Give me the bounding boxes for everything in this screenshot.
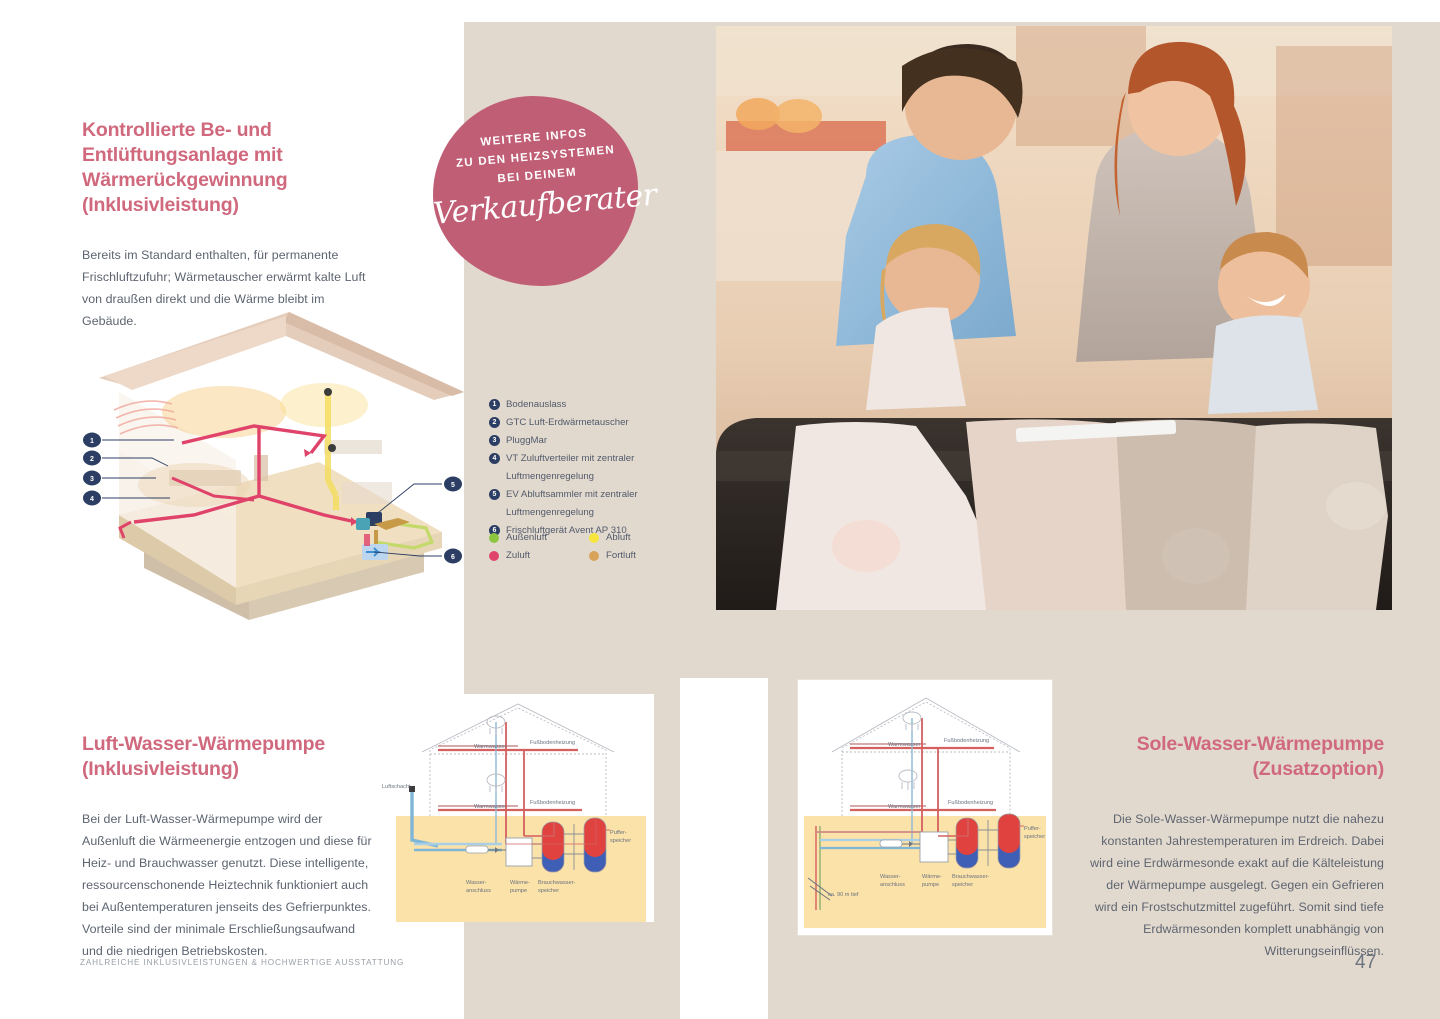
- legend-item: 2 GTC Luft-Erdwärmetauscher: [489, 415, 689, 431]
- svg-text:4: 4: [90, 496, 94, 503]
- legend-number: 5: [489, 489, 500, 500]
- svg-text:1: 1: [90, 438, 94, 445]
- section-brine-water-heatpump: Sole-Wasser-Wärmepumpe (Zusatzoption) Di…: [1090, 732, 1384, 962]
- svg-text:speicher: speicher: [538, 888, 559, 894]
- svg-text:Fußbodenheizung: Fußbodenheizung: [948, 800, 993, 806]
- legend-item: 4 VT Zuluftverteiler mit zentraler: [489, 451, 689, 467]
- svg-text:anschluss: anschluss: [466, 888, 491, 894]
- svg-text:Wasser-: Wasser-: [466, 880, 487, 886]
- air-water-body: Bei der Luft-Wasser-Wärmepumpe wird der …: [82, 808, 372, 962]
- legend-color-item: Abluft: [589, 532, 689, 543]
- legend-color-item: Zuluft: [489, 550, 589, 561]
- svg-text:Warmwasser: Warmwasser: [474, 744, 507, 750]
- legend-number: 1: [489, 399, 500, 410]
- svg-text:Puffer-: Puffer-: [610, 830, 627, 836]
- brine-water-body: Die Sole-Wasser-Wärmepumpe nutzt die nah…: [1090, 808, 1384, 962]
- legend-color-row: Außenluft Abluft: [489, 532, 689, 543]
- svg-text:Brauchwasser-: Brauchwasser-: [538, 880, 575, 886]
- airflow-color-legend: Außenluft Abluft Zuluft Fortluft: [489, 532, 689, 568]
- svg-text:speicher: speicher: [952, 882, 973, 888]
- legend-color-row: Zuluft Fortluft: [489, 550, 689, 561]
- svg-text:Wärme-: Wärme-: [922, 874, 942, 880]
- svg-text:6: 6: [451, 554, 455, 561]
- legend-number: 2: [489, 417, 500, 428]
- svg-text:pumpe: pumpe: [922, 882, 939, 888]
- svg-text:Wärme-: Wärme-: [510, 880, 530, 886]
- svg-text:speicher: speicher: [1024, 834, 1045, 840]
- ventilation-heading: Kontrollierte Be- und Entlüftungsanlage …: [82, 118, 382, 218]
- house-ventilation-diagram: 1 2 3 4 5 6: [74, 300, 474, 620]
- legend-color-label: Fortluft: [606, 550, 636, 561]
- legend-label-continued: Luftmengenregelung: [506, 469, 689, 485]
- legend-label: VT Zuluftverteiler mit zentraler: [506, 451, 634, 467]
- brine-water-heatpump-diagram: Warmwasser Fußbodenheizung Warmwasser Fu…: [798, 680, 1052, 935]
- legend-color-item: Außenluft: [489, 532, 589, 543]
- brine-water-heading: Sole-Wasser-Wärmepumpe (Zusatzoption): [1090, 732, 1384, 782]
- svg-text:speicher: speicher: [610, 838, 631, 844]
- legend-item: 5 EV Abluftsammler mit zentraler: [489, 487, 689, 503]
- legend-label: EV Abluftsammler mit zentraler: [506, 487, 638, 503]
- svg-text:3: 3: [90, 476, 94, 483]
- page-number: 47: [1355, 952, 1376, 974]
- footer-caption: ZAHLREICHE INKLUSIVLEISTUNGEN & HOCHWERT…: [80, 958, 404, 967]
- svg-text:Puffer-: Puffer-: [1024, 826, 1041, 832]
- section-air-water-heatpump: Luft-Wasser-Wärmepumpe (Inklusivleistung…: [82, 732, 372, 962]
- svg-text:Fußbodenheizung: Fußbodenheizung: [944, 738, 989, 744]
- svg-text:Wasser-: Wasser-: [880, 874, 901, 880]
- legend-number: 3: [489, 435, 500, 446]
- air-water-heatpump-diagram: Luftschacht Warmwasser Fußbodenheizung W…: [378, 694, 654, 922]
- svg-text:Fußbodenheizung: Fußbodenheizung: [530, 740, 575, 746]
- svg-text:anschluss: anschluss: [880, 882, 905, 888]
- svg-text:ca. 90 m tief: ca. 90 m tief: [828, 892, 859, 898]
- svg-text:Brauchwasser-: Brauchwasser-: [952, 874, 989, 880]
- air-water-heading: Luft-Wasser-Wärmepumpe (Inklusivleistung…: [82, 732, 372, 782]
- legend-color-item: Fortluft: [589, 550, 689, 561]
- legend-color-label: Zuluft: [506, 550, 530, 561]
- brochure-page: WEITERE INFOS ZU DEN HEIZSYSTEMEN BEI DE…: [0, 0, 1440, 1019]
- svg-text:Fußbodenheizung: Fußbodenheizung: [530, 800, 575, 806]
- legend-item: 3 PluggMar: [489, 433, 689, 449]
- legend-color-label: Abluft: [606, 532, 631, 543]
- legend-item: 1 Bodenauslass: [489, 397, 689, 413]
- legend-label: Bodenauslass: [506, 397, 566, 413]
- outdoor-air-dot-icon: [489, 533, 499, 543]
- svg-text:Warmwasser: Warmwasser: [888, 804, 921, 810]
- svg-text:2: 2: [90, 456, 94, 463]
- legend-label: PluggMar: [506, 433, 547, 449]
- legend-color-label: Außenluft: [506, 532, 547, 543]
- legend-label-continued: Luftmengenregelung: [506, 505, 689, 521]
- svg-text:5: 5: [451, 482, 455, 489]
- svg-text:Warmwasser: Warmwasser: [474, 804, 507, 810]
- svg-text:pumpe: pumpe: [510, 888, 527, 894]
- legend-label: GTC Luft-Erdwärmetauscher: [506, 415, 629, 431]
- svg-text:Warmwasser: Warmwasser: [888, 742, 921, 748]
- family-photo: [716, 26, 1392, 610]
- svg-text:Luftschacht: Luftschacht: [382, 784, 411, 790]
- info-badge[interactable]: WEITERE INFOS ZU DEN HEIZSYSTEMEN BEI DE…: [433, 96, 638, 286]
- exhaust-air-dot-icon: [589, 533, 599, 543]
- legend-number: 4: [489, 453, 500, 464]
- ventilation-legend: 1 Bodenauslass 2 GTC Luft-Erdwärmetausch…: [489, 397, 689, 541]
- supply-air-dot-icon: [489, 551, 499, 561]
- extract-air-dot-icon: [589, 551, 599, 561]
